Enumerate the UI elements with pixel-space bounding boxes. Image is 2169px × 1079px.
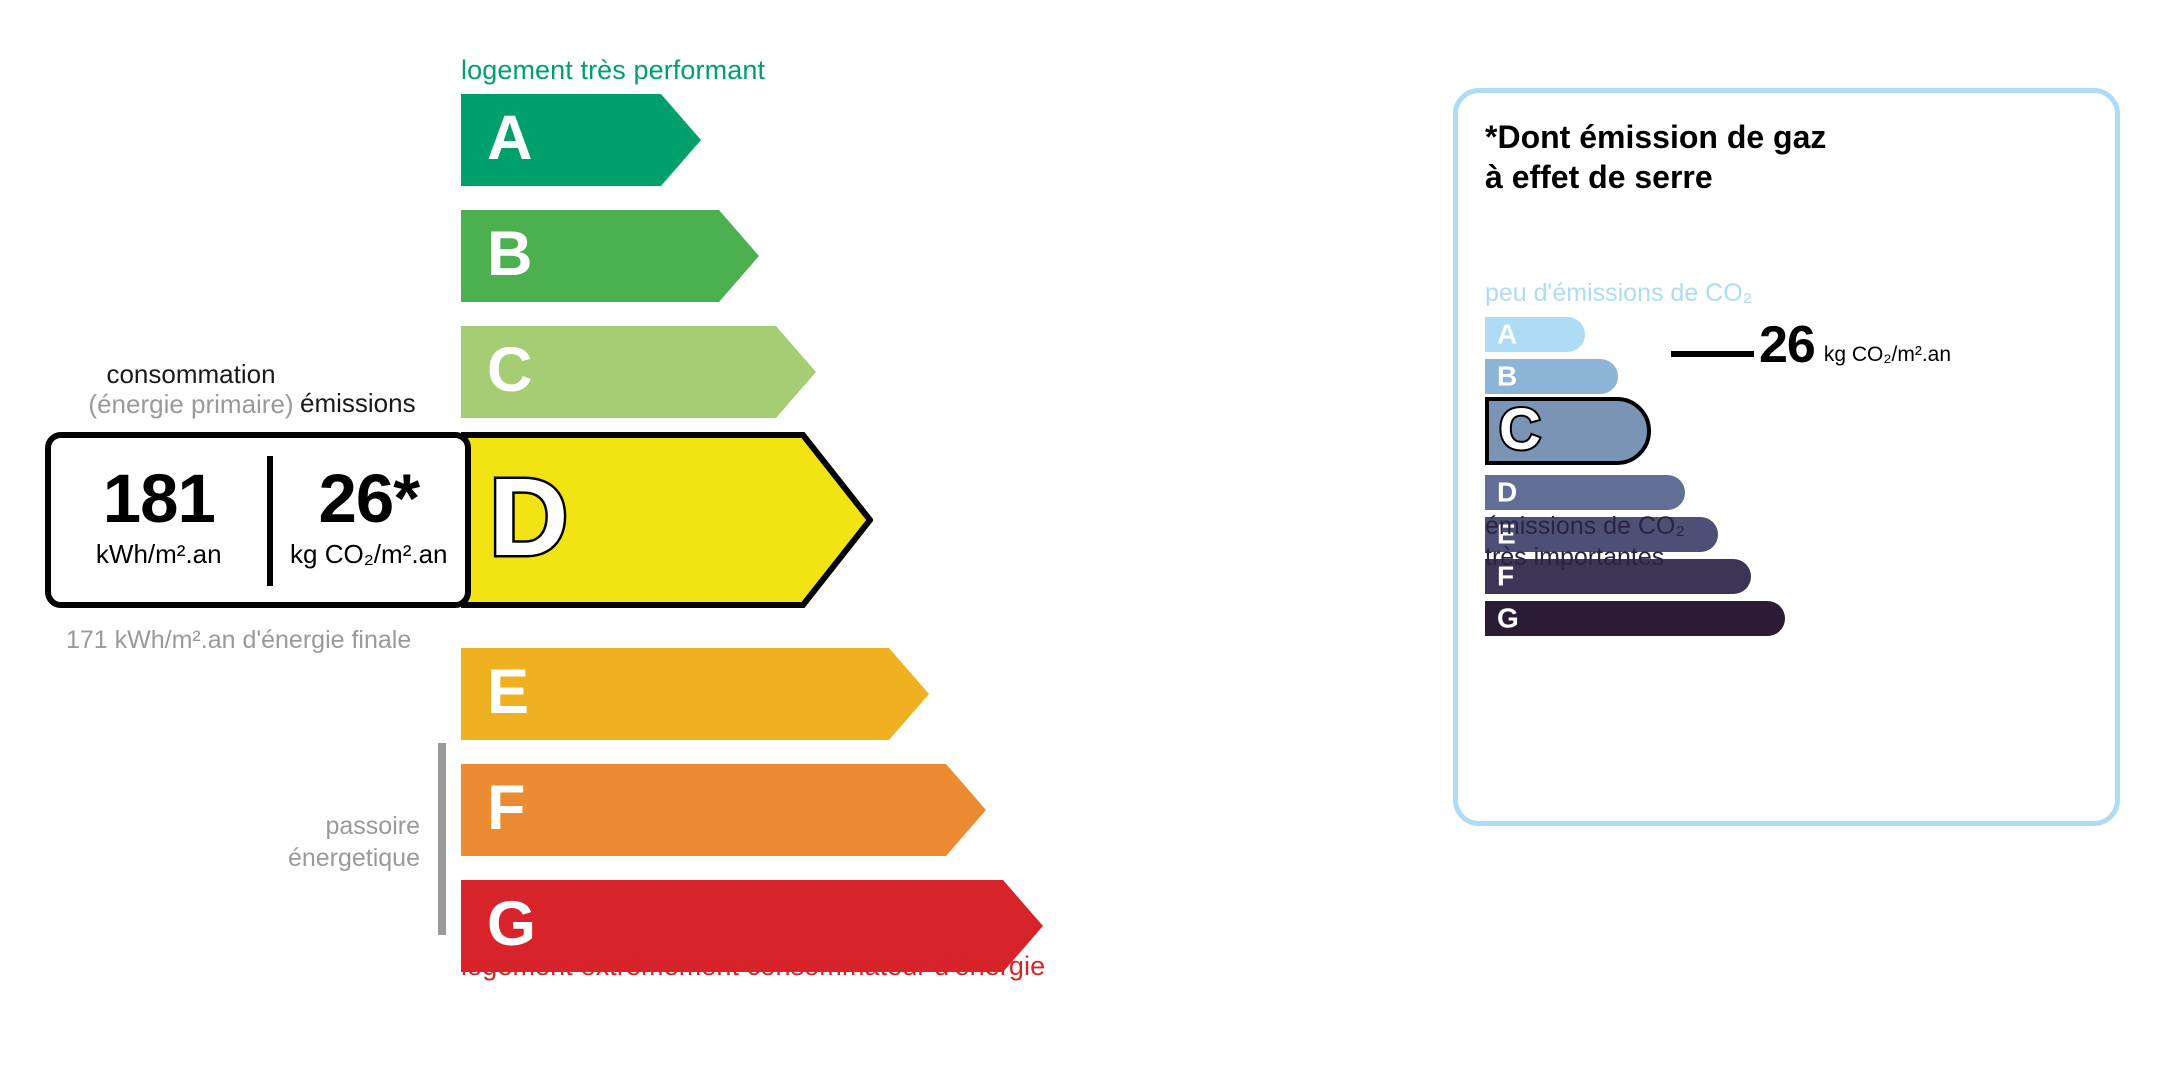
- energy-performance-panel: logement très performant ABCDEFG consomm…: [0, 0, 1400, 1079]
- ges-grade-bar-d: D: [1485, 475, 1685, 510]
- selected-grade-value-card: 181 kWh/m².an 26* kg CO₂/m².an: [45, 432, 471, 608]
- ges-grade-letter: D: [1497, 478, 1517, 506]
- ges-grade-letter: A: [1497, 320, 1517, 348]
- ges-grade-letter: B: [1497, 362, 1517, 390]
- passoire-energetique-label: passoire énergetique: [230, 810, 420, 874]
- ges-grade-bar-b: B: [1485, 359, 1618, 394]
- energy-grade-letter: A: [487, 107, 533, 170]
- ges-callout-leader-line: [1671, 351, 1754, 357]
- ges-bar-fill: [1485, 601, 1785, 636]
- ges-best-caption: peu d'émissions de CO₂: [1485, 279, 1752, 308]
- consumption-header-line2: (énergie primaire): [66, 390, 316, 420]
- ges-worst-caption: émissions de CO₂ très importantes: [1485, 511, 1685, 574]
- final-energy-note: 171 kWh/m².an d'énergie finale: [66, 624, 411, 657]
- energy-worst-caption: logement extrêmement consommateur d'éner…: [461, 951, 1045, 982]
- ges-callout-unit: kg CO₂/m².an: [1824, 343, 1951, 367]
- energy-best-caption: logement très performant: [461, 55, 765, 86]
- emission-value: 26*: [318, 466, 419, 532]
- ges-callout-number: 26: [1759, 319, 1815, 371]
- ges-grade-bar-a: A: [1485, 317, 1585, 352]
- consumption-header: consommation (énergie primaire): [66, 360, 316, 420]
- energy-grade-letter: F: [487, 777, 525, 840]
- greenhouse-gas-panel: *Dont émission de gaz à effet de serre p…: [1453, 88, 2120, 826]
- energy-grade-arrow-a: A: [461, 94, 701, 186]
- energy-grade-arrow-e: E: [461, 648, 929, 740]
- ges-panel-title: *Dont émission de gaz à effet de serre: [1485, 118, 1826, 197]
- ges-grade-letter: C: [1499, 401, 1541, 459]
- emissions-cell: 26* kg CO₂/m².an: [273, 438, 465, 602]
- energy-grade-arrow-c: C: [461, 326, 816, 418]
- passoire-energetique-bracket: [438, 743, 446, 935]
- arrow-shape: [461, 648, 929, 740]
- ges-callout-value: 26 kg CO₂/m².an: [1759, 319, 1951, 371]
- consumption-value: 181: [103, 466, 215, 532]
- consumption-header-line1: consommation: [106, 359, 275, 389]
- energy-grade-arrow-stack: ABCDEFG: [461, 94, 1291, 934]
- energy-grade-arrow-f: F: [461, 764, 986, 856]
- energy-grade-letter: E: [487, 661, 529, 724]
- consumption-unit: kWh/m².an: [96, 539, 222, 570]
- energy-grade-letter: G: [487, 893, 536, 956]
- ges-grade-bar-g: G: [1485, 601, 1785, 636]
- consumption-cell: 181 kWh/m².an: [51, 438, 267, 602]
- emissions-header: émissions: [300, 388, 416, 419]
- energy-grade-letter: C: [487, 339, 533, 402]
- ges-grade-letter: G: [1497, 604, 1519, 632]
- energy-grade-arrow-b: B: [461, 210, 759, 302]
- energy-grade-letter: D: [489, 463, 568, 573]
- arrow-shape: [461, 764, 986, 856]
- energy-grade-arrow-d: D: [461, 432, 873, 608]
- energy-grade-letter: B: [487, 223, 533, 286]
- ges-grade-bar-c: C: [1485, 397, 1651, 465]
- emission-unit: kg CO₂/m².an: [290, 539, 447, 570]
